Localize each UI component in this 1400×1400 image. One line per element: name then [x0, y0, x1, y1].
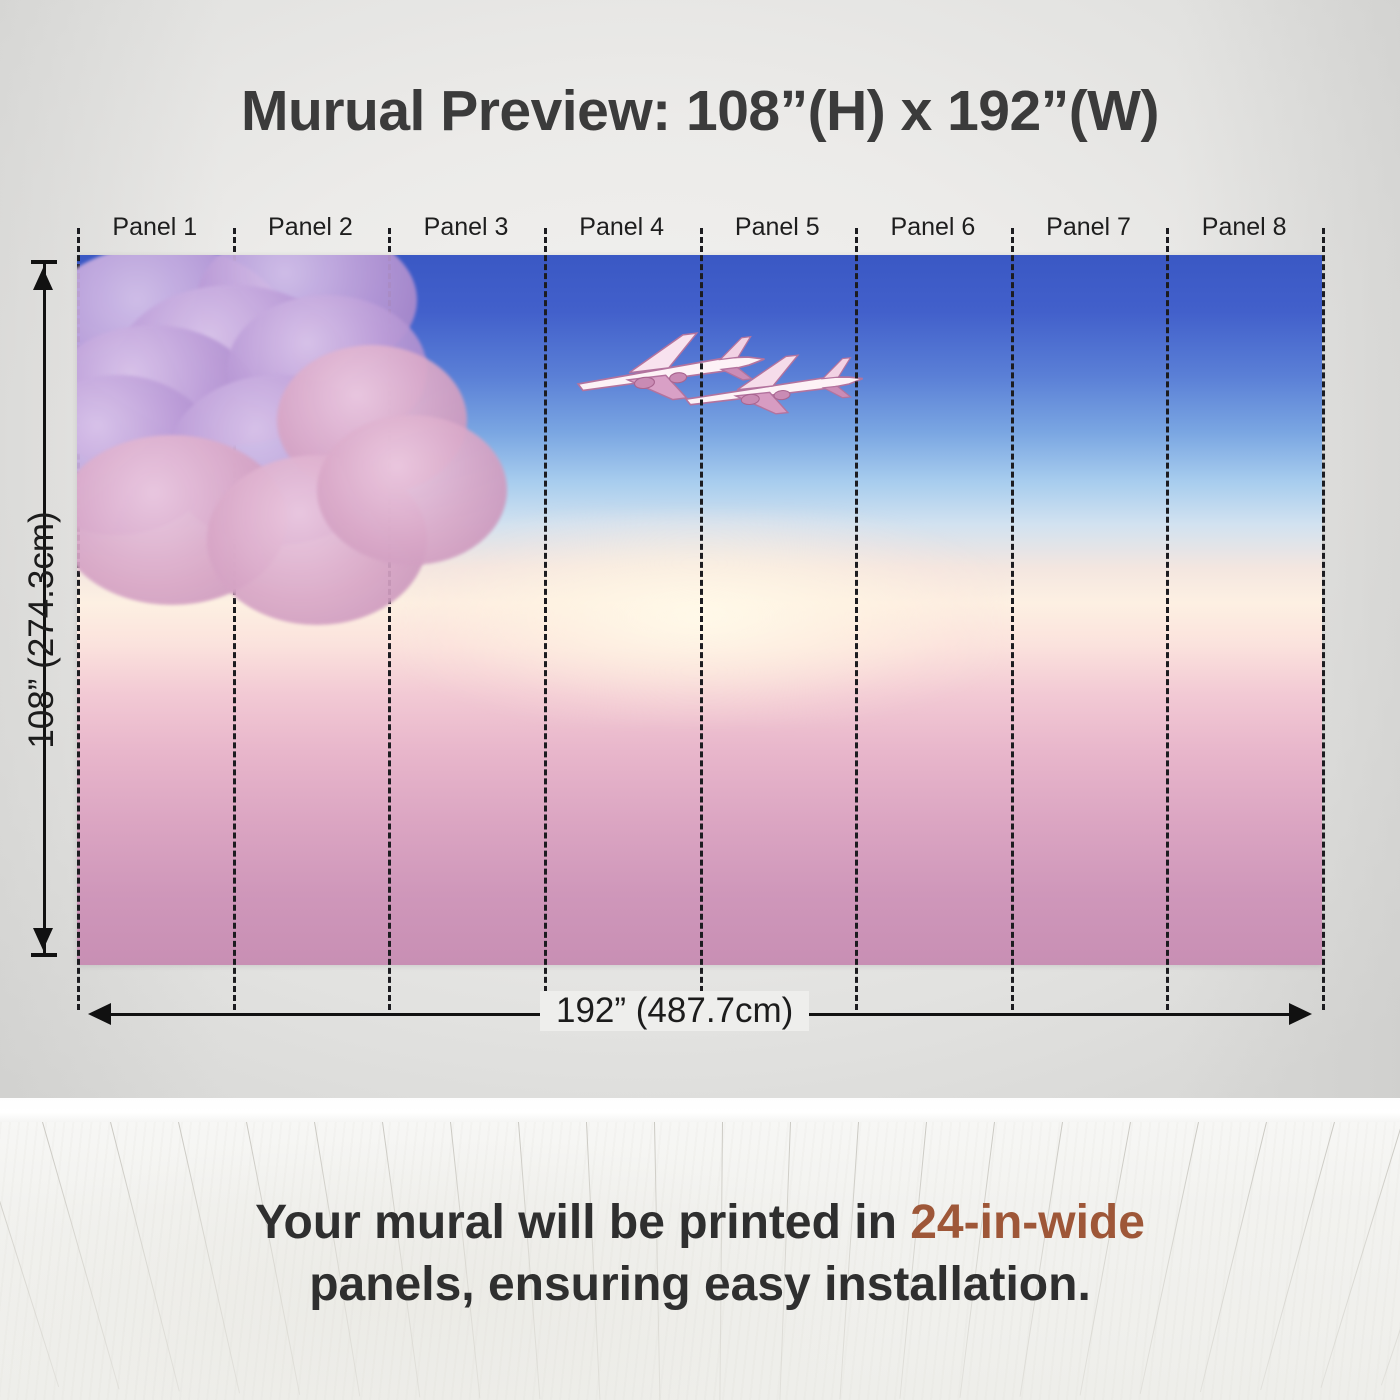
panel-divider-5	[855, 228, 858, 1010]
panel-label-1: Panel 1	[112, 213, 197, 242]
panel-label-5: Panel 5	[735, 213, 820, 242]
panel-divider-3	[544, 228, 547, 1010]
height-arrow-up-icon	[33, 268, 53, 290]
panel-divider-6	[1011, 228, 1014, 1010]
caption-accent-text: 24-in-wide	[910, 1196, 1145, 1249]
cloud-blob	[317, 415, 507, 565]
width-dimension-label: 192” (487.7cm)	[540, 991, 809, 1031]
page-title: Murual Preview: 108”(H) x 192”(W)	[0, 78, 1400, 144]
panel-divider-8	[1322, 228, 1325, 1010]
height-tick-bottom	[31, 953, 57, 957]
panel-label-4: Panel 4	[579, 213, 664, 242]
panel-divider-7	[1166, 228, 1169, 1010]
height-dimension-label: 108” (274.3cm)	[22, 330, 62, 930]
panel-label-8: Panel 8	[1202, 213, 1287, 242]
panel-label-6: Panel 6	[891, 213, 976, 242]
room-scene: Murual Preview: 108”(H) x 192”(W)	[0, 0, 1400, 1400]
caption-line-2: panels, ensuring easy installation.	[0, 1254, 1400, 1316]
panel-divider-4	[700, 228, 703, 1010]
footer-caption: Your mural will be printed in 24-in-wide…	[0, 1192, 1400, 1317]
panel-label-2: Panel 2	[268, 213, 353, 242]
caption-lead-text: Your mural will be printed in	[255, 1196, 910, 1249]
airplane-icon-2	[567, 330, 817, 405]
panel-label-7: Panel 7	[1046, 213, 1131, 242]
panel-label-3: Panel 3	[424, 213, 509, 242]
width-arrow-left-icon	[88, 1003, 111, 1025]
width-arrow-right-icon	[1289, 1003, 1312, 1025]
caption-line-1: Your mural will be printed in 24-in-wide	[0, 1192, 1400, 1254]
baseboard	[0, 1098, 1400, 1124]
height-arrow-down-icon	[33, 928, 53, 950]
